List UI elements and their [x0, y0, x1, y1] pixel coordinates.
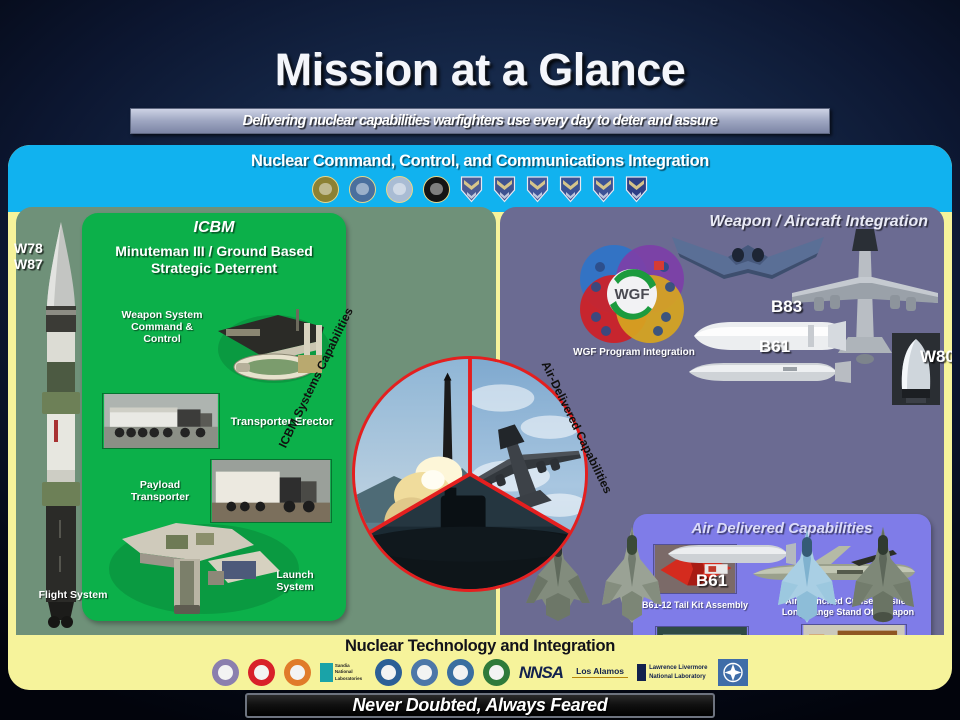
- b61-bomb-lower-image: [666, 543, 796, 565]
- transporter-erector-label: Transporter Erector: [224, 416, 340, 429]
- b61-label-upper: B61: [759, 337, 790, 357]
- sandia-national-laboratories-icon: Sandia National Laboratories: [320, 663, 366, 681]
- w80-label: W80: [920, 347, 952, 367]
- subtitle-text: Delivering nuclear capabilities warfight…: [243, 113, 718, 129]
- lawrence-livermore-wordmark-icon: Lawrence Livermore National Laboratory: [637, 664, 709, 681]
- wgf-center-text: WGF: [615, 286, 650, 303]
- b61-label-lower: B61: [696, 571, 727, 591]
- afgsc-ring-icon: [248, 659, 275, 686]
- nti-band-title: Nuclear Technology and Integration: [8, 635, 952, 656]
- page-title: Mission at a Glance: [0, 44, 960, 96]
- launch-system-label: Launch System: [258, 569, 332, 593]
- payload-transporter-label: Payload Transporter: [114, 479, 206, 503]
- icbm-box: ICBM Minuteman III / Ground Based Strate…: [82, 213, 346, 621]
- slide-canvas: Mission at a Glance Delivering nuclear c…: [0, 0, 960, 720]
- nti-logo-row: Sandia National LaboratoriesNNSALos Alam…: [8, 659, 952, 686]
- w87-label: W87: [14, 256, 43, 272]
- launch-system-image: [104, 509, 300, 614]
- usstratcom-seal-icon: [312, 176, 339, 203]
- air-force-global-strike-seal-icon: [386, 176, 413, 203]
- minuteman-missile-image: [38, 220, 84, 640]
- transporter-erector-image: [102, 393, 220, 449]
- department-of-energy-seal-icon: [483, 659, 510, 686]
- afmc-ring-icon: [284, 659, 311, 686]
- los-alamos-wordmark-icon: Los Alamos: [572, 667, 628, 679]
- air-force-test-center-crest-icon: [592, 175, 615, 203]
- flight-system-label: Flight System: [38, 589, 108, 601]
- nc3-integration-band: Nuclear Command, Control, and Communicat…: [8, 145, 952, 212]
- nc3-band-title: Nuclear Command, Control, and Communicat…: [8, 145, 952, 171]
- weapon-system-command-control-label: Weapon System Command & Control: [112, 309, 212, 345]
- footer-tagline-bar: Never Doubted, Always Feared: [245, 693, 715, 718]
- w80-warhead-image: [892, 333, 940, 405]
- air-force-command-crest-3-icon: [526, 175, 549, 203]
- nnsa-wordmark-icon: NNSA: [519, 664, 563, 681]
- triad-wedges: [355, 359, 585, 589]
- footer-tagline-text: Never Doubted, Always Feared: [352, 695, 607, 716]
- navy-seal-icon: [375, 659, 402, 686]
- nato-logo-icon: [718, 659, 748, 686]
- navy-strategic-systems-seal-icon: [423, 176, 450, 203]
- air-force-space-command-crest-icon: [559, 175, 582, 203]
- nc3-badge-row: [8, 175, 952, 203]
- w78-label: W78: [14, 240, 43, 256]
- b61-bomb-upper-image: [687, 361, 853, 383]
- air-force-nuclear-weapons-center-crest-icon: [625, 175, 648, 203]
- f15-eagle-image: [846, 525, 920, 625]
- dtra-seal-icon: [447, 659, 474, 686]
- dod-seal-icon: [411, 659, 438, 686]
- f35-lightning-image: [596, 525, 668, 625]
- icbm-program-title: Minuteman III / Ground Based Strategic D…: [82, 237, 346, 277]
- nuclear-technology-integration-band: Nuclear Technology and Integration Sandi…: [8, 635, 952, 690]
- air-force-nuclear-weapons-center-ring-icon: [212, 659, 239, 686]
- dod-seal-icon: [349, 176, 376, 203]
- air-force-command-crest-1-icon: [460, 175, 483, 203]
- warhead-labels: W78 W87: [14, 240, 43, 272]
- icbm-section-label: ICBM: [82, 213, 346, 237]
- air-force-command-crest-2-icon: [493, 175, 516, 203]
- subtitle-banner: Delivering nuclear capabilities warfight…: [130, 108, 830, 134]
- f16-fighting-falcon-image: [772, 527, 842, 625]
- b83-label: B83: [771, 297, 802, 317]
